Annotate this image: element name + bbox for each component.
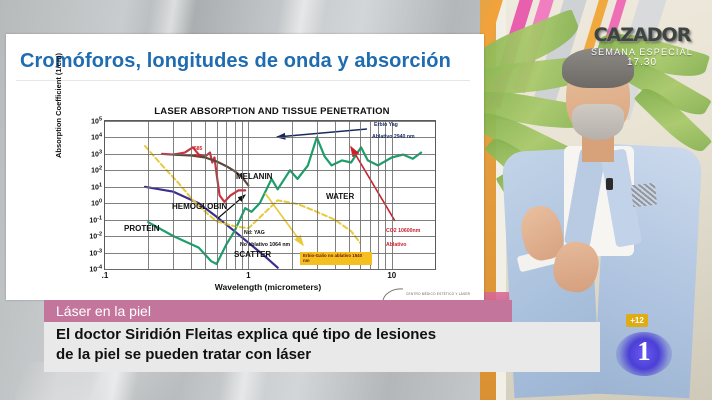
chart-y-tick: 101: [91, 182, 102, 191]
chart-gridline-v: [360, 121, 361, 269]
lower-third-kicker: Láser en la piel: [44, 300, 512, 322]
promo-title: CAZADOR: [578, 26, 706, 45]
broadcast-screenshot: CAZADOR SEMANA ESPECIAL 17.30 Cromóforos…: [0, 0, 712, 400]
chart-annotation-ablativo: Ablativo: [386, 242, 406, 248]
chart-y-tick: 105: [91, 116, 102, 125]
chart-curve-label-hemoglobin: HEMOGLOBIN: [172, 202, 227, 211]
chart-y-tick: 10-2: [89, 231, 102, 240]
promo-subtitle: SEMANA ESPECIAL: [578, 47, 706, 57]
chart-gridline-h: [105, 269, 435, 270]
chart-y-tick: 10-3: [89, 248, 102, 257]
pocket-square: [631, 183, 657, 207]
chart-y-tick: 10-4: [89, 264, 102, 273]
chart-gridline-v: [226, 121, 227, 269]
chart-y-tick: 104: [91, 133, 102, 142]
lower-third-body: El doctor Siridión Fleitas explica qué t…: [44, 322, 600, 372]
chart-x-axis-label: Wavelength (micrometers): [118, 282, 418, 292]
lower-third-kicker-text: Láser en la piel: [56, 303, 151, 319]
chart-y-tick: 103: [91, 149, 102, 158]
chart-gridline-v: [205, 121, 206, 269]
chart-curve-label-melanin: MELANIN: [236, 172, 272, 181]
chart-gridline-v: [235, 121, 236, 269]
beard: [572, 104, 624, 140]
chart-annotation-no-ablativo-1064-nm: No ablativo 1064 nm: [240, 242, 290, 248]
chart-gridline-v: [217, 121, 218, 269]
chart-gridline-v: [378, 121, 379, 269]
chart-curve-label-water: WATER: [326, 192, 354, 201]
chart-gridline-v: [317, 121, 318, 269]
chart-x-tick: 1: [246, 271, 250, 280]
lower-third-line-1: El doctor Siridión Fleitas explica qué t…: [56, 326, 436, 343]
age-rating-badge: +12: [626, 314, 648, 327]
chart-y-tick: 102: [91, 166, 102, 175]
chart-annotation-nd-yag: Nd: YAG: [244, 230, 265, 236]
chart-x-tick: .1: [102, 271, 109, 280]
chart-x-tick: 10: [387, 271, 396, 280]
cemel-tagline-top: CENTRO MÉDICO ESTÉTICO Y LÁSER: [406, 292, 470, 296]
promo-time: 17.30: [578, 57, 706, 68]
promo-bug: CAZADOR SEMANA ESPECIAL 17.30: [578, 26, 706, 78]
chart-annotation-ablativo-2940-nm: Ablativo 2940 nm: [372, 134, 415, 140]
chart-annotation-co2-10600nm: CO2 10600nm: [386, 228, 420, 234]
channel-logo: 1: [616, 332, 672, 376]
laser-absorption-chart: LASER ABSORPTION AND TISSUE PENETRATION …: [58, 106, 458, 296]
chart-gridline-v: [370, 121, 371, 269]
channel-logo-text: 1: [616, 336, 672, 367]
chart-title: LASER ABSORPTION AND TISSUE PENETRATION: [122, 106, 422, 117]
chart-curve-label-scatter: SCATTER: [234, 250, 271, 259]
chart-annotation-585nm: 585: [194, 146, 202, 152]
slide-title: Cromóforos, longitudes de onda y absorci…: [20, 50, 451, 73]
chart-gridline-v: [173, 121, 174, 269]
chart-y-tick: 10-1: [89, 215, 102, 224]
chart-gridline-v: [191, 121, 192, 269]
chart-gridline-v: [292, 121, 293, 269]
chart-annotation-erbio-yag: Erbio Yag: [374, 122, 398, 128]
chart-curve-label-protein: PROTEIN: [124, 224, 160, 233]
chart-annotation-585nm-unit: nm: [194, 153, 202, 159]
presentation-slide: Cromóforos, longitudes de onda y absorci…: [6, 34, 484, 300]
chart-y-tick: 100: [91, 199, 102, 208]
chart-annotation-erbio-galio: Erbio-Galio no ablativo 1540 nm: [300, 252, 372, 265]
slide-divider: [16, 80, 470, 81]
lapel-microphone: [606, 178, 613, 190]
lower-third-line-2: de la piel se pueden tratar con láser: [56, 346, 311, 363]
chart-y-axis-label: Absorption Coefficient (1/cm): [54, 53, 63, 158]
chart-gridline-v: [148, 121, 149, 269]
